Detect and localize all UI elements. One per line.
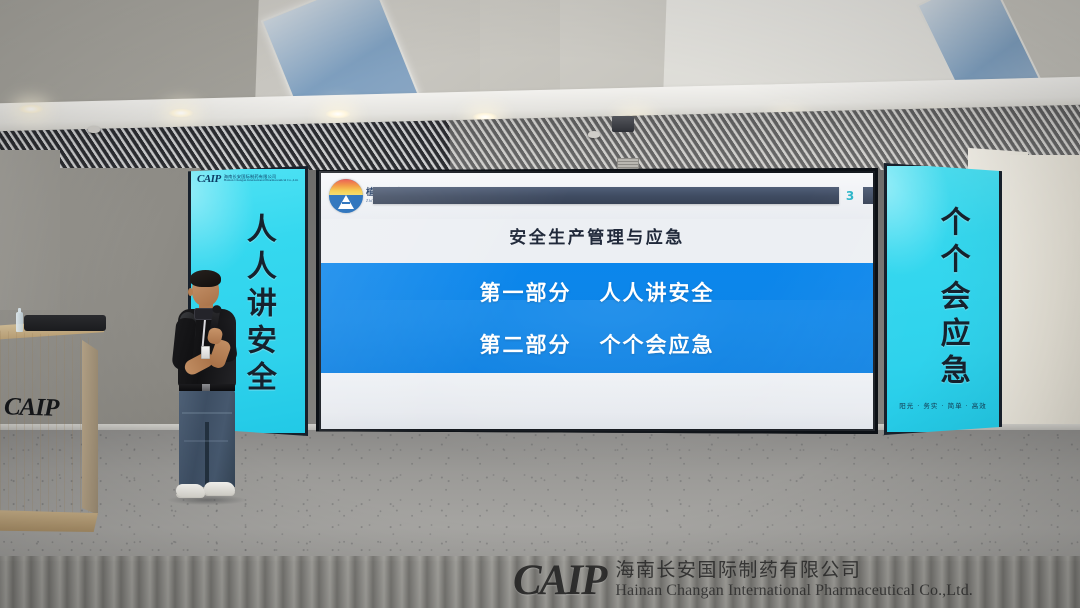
podium-base — [0, 510, 98, 532]
podium-front-panel — [0, 330, 90, 520]
presenter-sneaker-left — [176, 484, 205, 497]
wall-right-cream — [1010, 155, 1080, 455]
wall-left-upper-panel — [0, 150, 60, 310]
ceiling-projector — [612, 116, 634, 132]
slide-canvas: 植安安全 Zhi'an Training 3 安全生产管理与应急 第一部分 人人… — [321, 173, 873, 429]
presenter-jeans-crease — [184, 440, 228, 442]
slide-footer-area — [321, 373, 873, 429]
slide-page-number: 3 — [841, 187, 859, 204]
podium-side-panel — [82, 340, 98, 515]
ceiling-downlight — [325, 109, 351, 119]
smoke-detector-icon — [88, 126, 100, 133]
slide-title-bar-tail — [863, 187, 873, 204]
stage-front-skirt — [0, 556, 1080, 608]
agenda-item-2: 第二部分 个个会应急 — [480, 329, 715, 359]
presenter-leg-gap — [205, 422, 209, 488]
smoke-detector-icon — [588, 131, 600, 138]
chair-back-behind-podium — [24, 315, 106, 331]
presenter-sneaker-right — [204, 482, 235, 495]
rainbow-arc-icon — [329, 179, 363, 195]
banner-left-logo: CAIP 海南长安国际制药有限公司 Hainan Changan Interna… — [197, 173, 298, 185]
shield-emblem-icon — [329, 179, 363, 213]
presenter-speaker — [160, 262, 256, 514]
banner-right-values-text: 阳光 · 务实 · 简单 · 高效 — [887, 400, 999, 410]
presenter-belt-buckle — [202, 384, 210, 391]
ceiling-downlight — [18, 104, 44, 114]
slide-title: 安全生产管理与应急 — [321, 223, 873, 248]
letter-a-mark-icon — [338, 195, 354, 209]
presenter-id-badge — [201, 346, 210, 359]
presentation-screen[interactable]: 植安安全 Zhi'an Training 3 安全生产管理与应急 第一部分 人人… — [316, 168, 878, 434]
presenter-jeans-crease — [182, 412, 232, 414]
slide-agenda-band: 第一部分 人人讲安全 第二部分 个个会应急 — [321, 263, 873, 373]
agenda-item-1: 第一部分 人人讲安全 — [480, 277, 715, 307]
water-bottle — [16, 312, 23, 332]
stage-skirt-pleats — [0, 556, 1080, 608]
presenter-ear — [188, 288, 193, 296]
presenter-hair — [190, 270, 221, 287]
ceiling-downlight — [168, 108, 194, 118]
banner-right-slogan-vertical: 个个会应急 — [936, 206, 968, 391]
slide-title-bar — [373, 187, 839, 204]
lectern-podium: CAIP — [0, 322, 108, 537]
led-banner-right: 个个会应急 阳光 · 务实 · 简单 · 高效 — [884, 163, 1002, 435]
podium-caip-logo: CAIP — [4, 393, 59, 422]
caip-wordmark: CAIP — [197, 173, 221, 185]
conference-hall-scene: CAIP 海南长安国际制药有限公司 Hainan Changan Interna… — [0, 0, 1080, 608]
company-name-en: Hainan Changan International Pharmaceuti… — [224, 179, 299, 183]
